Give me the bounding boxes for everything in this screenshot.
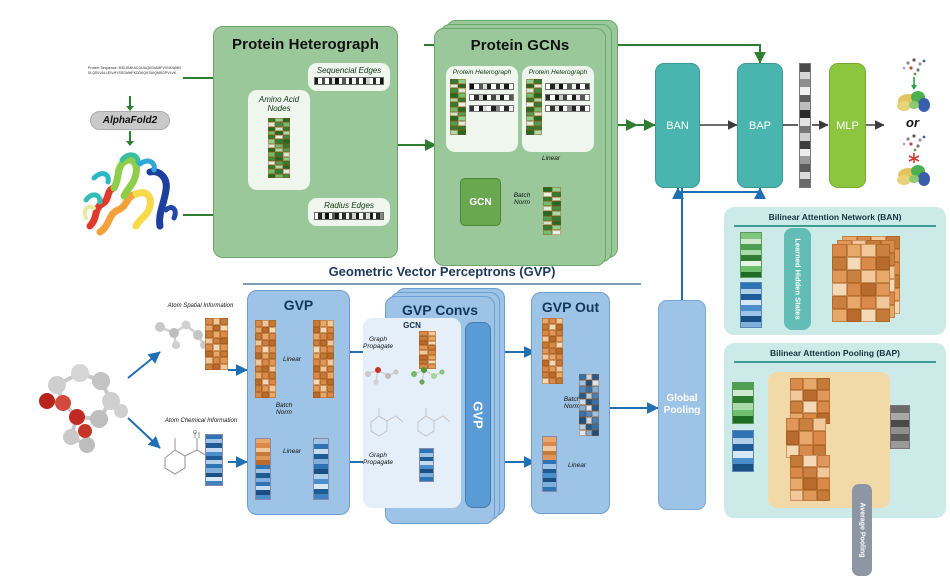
gvp-out-spatial-matrix xyxy=(542,318,563,384)
gcn-input-edge-strip-3 xyxy=(469,105,514,112)
sequential-edges-strip xyxy=(314,77,384,85)
protein-sequence-block: Protein Sequence: MSLSMKACDLIAQKDIAMFVVN… xyxy=(88,66,183,76)
global-pooling-block[interactable]: Global Pooling xyxy=(658,300,706,510)
nonbinding-ligand-scatter xyxy=(903,134,926,151)
protein-sequence-text: Protein Sequence: MSLSMKACDLIAQKDIAMFVVN… xyxy=(88,66,183,76)
radius-edges-label: Radius Edges xyxy=(308,201,390,210)
gcn-block[interactable]: GCN xyxy=(460,178,501,226)
gcn-batch-norm-label: BatchNorm xyxy=(504,192,540,206)
gvp-out-feature-matrix xyxy=(579,374,599,436)
gvp-convs-molecule-right-icon xyxy=(408,362,456,398)
gcn-output-edge-strip-2 xyxy=(545,94,590,101)
gvp-batch-norm-label: BatchNorm xyxy=(268,402,300,416)
atom-chemical-information-label: Atom Chemical Information xyxy=(146,418,256,425)
gcn-input-edge-strip-1 xyxy=(469,83,514,90)
gvp-input-spatial-matrix xyxy=(255,320,276,398)
binding-complex-structure xyxy=(897,91,930,112)
bap-tensor-lower xyxy=(790,455,830,501)
fusion-feature-vector xyxy=(799,63,811,188)
amino-acid-nodes-matrix xyxy=(268,118,290,178)
learned-hidden-states-bar[interactable]: Learned Hidden States xyxy=(784,228,811,330)
average-pooling-label: Average Pooling xyxy=(859,503,866,558)
gvp-title: GVP xyxy=(248,297,349,313)
diagram-canvas: Protein Sequence: MSLSMKACDLIAQKDIAMFVVN… xyxy=(0,0,950,526)
gvp-output-chemical-vector xyxy=(313,438,329,500)
radius-edges-card[interactable]: Radius Edges xyxy=(308,198,390,226)
gvp-convs-gcn-label: GCN xyxy=(363,321,461,330)
ban-detail-title: Bilinear Attention Network (BAN) xyxy=(724,207,946,222)
gvp-out-title: GVP Out xyxy=(532,299,609,315)
svg-text:O: O xyxy=(193,430,197,436)
atom-spatial-feature-matrix xyxy=(205,318,228,370)
gcn-output-heterograph-label: Protein Heterograph xyxy=(522,69,594,76)
bap-block[interactable]: BAP xyxy=(737,63,783,188)
amino-acid-nodes-label-line1: Amino Acid xyxy=(248,95,310,104)
ban-block[interactable]: BAN xyxy=(655,63,700,188)
protein-heterograph-title: Protein Heterograph xyxy=(214,36,397,53)
gcn-output-heterograph-card[interactable]: Protein Heterograph xyxy=(522,66,594,152)
alphafold-to-structure-arrow xyxy=(124,131,138,147)
gvp-convs-chemical-vector xyxy=(419,448,434,482)
gvp-convs-molecule-left-icon xyxy=(362,362,410,398)
global-pooling-label-line2: Pooling xyxy=(664,405,701,416)
ban-detail-rule xyxy=(734,225,936,227)
or-label: or xyxy=(906,115,920,130)
binding-ligand-scatter xyxy=(903,58,926,75)
sequential-edges-card[interactable]: Sequencial Edges xyxy=(308,63,390,91)
gvp-convs-skeletal-right-icon xyxy=(410,404,456,446)
global-pooling-label-line1: Global xyxy=(666,393,697,404)
bap-protein-vector xyxy=(732,382,754,424)
ban-attention-tensor xyxy=(832,236,908,324)
gcn-linear-label: Linear xyxy=(534,155,568,162)
gcn-input-node-matrix xyxy=(450,79,466,135)
gvp-convs-title: GVP Convs xyxy=(386,302,494,318)
ban-ligand-vector xyxy=(740,282,762,328)
ball-and-stick-molecule-icon xyxy=(25,345,140,475)
gvp-convs-gvp-bar[interactable]: GVP xyxy=(465,322,491,508)
graph-propagate-bottom-label: GraphPropagate xyxy=(360,452,396,466)
alphafold2-button[interactable]: AlphaFold2 xyxy=(90,111,170,130)
amino-acid-nodes-card[interactable]: Amino Acid Nodes xyxy=(248,90,310,190)
learned-hidden-states-label: Learned Hidden States xyxy=(793,238,802,319)
bap-detail-title: Bilinear Attention Pooling (BAP) xyxy=(724,343,946,358)
gvp-input-chemical-vector xyxy=(255,438,271,500)
gvp-convs-gvp-bar-label: GVP xyxy=(471,401,486,428)
mlp-block[interactable]: MLP xyxy=(829,63,866,188)
gcn-input-edge-strip-2 xyxy=(469,94,514,101)
nonbinding-complex-structure xyxy=(897,165,930,186)
bap-pooled-output-vector xyxy=(890,405,910,449)
prediction-output-icons: or xyxy=(884,55,946,185)
gvp-out-linear-label: Linear xyxy=(562,462,592,469)
gvp-section-divider xyxy=(243,283,641,285)
bap-tensor-middle xyxy=(786,418,826,458)
graph-propagate-top-label: GraphPropagate xyxy=(360,336,396,350)
protein-gcns-title: Protein GCNs xyxy=(435,37,605,54)
gcn-input-heterograph-card[interactable]: Protein Heterograph xyxy=(446,66,518,152)
ban-protein-vector xyxy=(740,232,762,278)
gvp-section-title: Geometric Vector Perceptrons (GVP) xyxy=(243,264,641,279)
gcn-output-edge-strip-1 xyxy=(545,83,590,90)
gvp-linear-top-label: Linear xyxy=(276,356,308,363)
radius-edges-strip xyxy=(314,212,384,220)
sequence-to-alphafold-arrow xyxy=(124,96,138,112)
gcn-output-feature-matrix xyxy=(543,187,561,235)
gcn-input-heterograph-label: Protein Heterograph xyxy=(446,69,518,76)
bap-detail-rule xyxy=(734,361,936,363)
gvp-output-spatial-matrix xyxy=(313,320,334,398)
sequential-edges-label: Sequencial Edges xyxy=(308,66,390,75)
average-pooling-bar[interactable]: Average Pooling xyxy=(852,484,872,576)
atom-spatial-information-label: Atom Spatial Information xyxy=(148,303,253,310)
gcn-output-node-matrix xyxy=(526,79,542,135)
amino-acid-nodes-label-line2: Nodes xyxy=(248,104,310,113)
gvp-linear-bottom-label: Linear xyxy=(276,448,308,455)
gvp-convs-skeletal-left-icon xyxy=(363,404,409,446)
protein-sequence-label: Protein Sequence: xyxy=(88,66,118,70)
bap-ligand-vector xyxy=(732,430,754,472)
gcn-output-edge-strip-3 xyxy=(545,105,590,112)
gvp-out-chemical-vector xyxy=(542,436,557,492)
protein-ribbon-structure-icon xyxy=(80,148,185,240)
atom-chemical-feature-vector xyxy=(205,434,223,486)
